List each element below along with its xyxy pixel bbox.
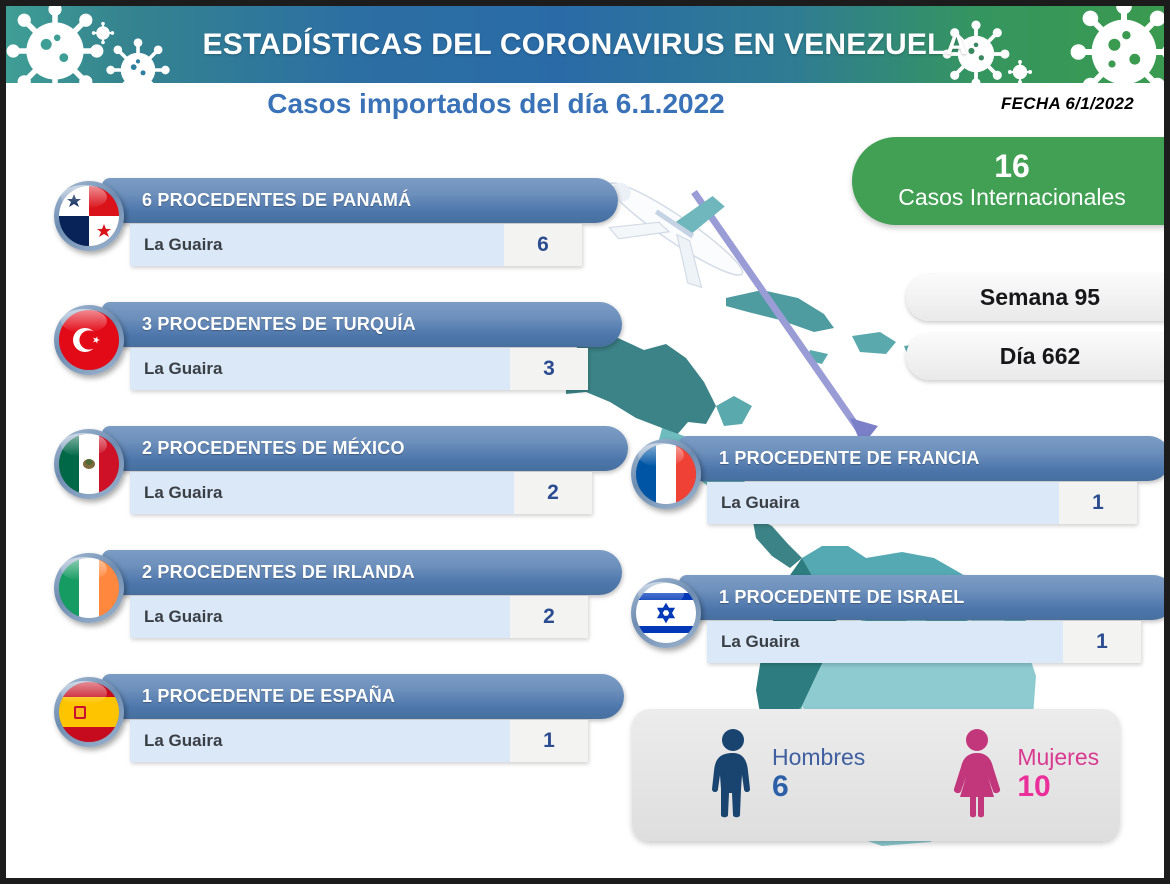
man-icon — [708, 727, 758, 824]
ireland-flag-icon — [54, 553, 124, 623]
panama-flag-icon — [54, 181, 124, 251]
gender-women: Mujeres 10 — [951, 727, 1099, 824]
card-place: La Guaira — [130, 720, 510, 762]
card-header: 6 PROCEDENTES DE PANAMÁ — [102, 178, 618, 223]
card-header: 1 PROCEDENTE DE FRANCIA — [679, 436, 1164, 481]
woman-icon — [951, 727, 1003, 824]
header-banner: ESTADÍSTICAS DEL CORONAVIRUS EN VENEZUEL… — [6, 6, 1164, 83]
page-title: ESTADÍSTICAS DEL CORONAVIRUS EN VENEZUEL… — [6, 6, 1164, 83]
gender-breakdown-panel: Hombres 6 Mujeres 10 — [632, 709, 1120, 841]
card-place: La Guaira — [130, 348, 510, 390]
card-row: La Guaira 6 — [130, 224, 582, 266]
card-title: 2 PROCEDENTES DE IRLANDA — [142, 562, 415, 583]
card-place: La Guaira — [130, 596, 510, 638]
card-row: La Guaira 1 — [707, 482, 1137, 524]
card-place: La Guaira — [707, 621, 1063, 663]
women-label: Mujeres — [1017, 745, 1099, 770]
card-header: 2 PROCEDENTES DE IRLANDA — [102, 550, 622, 595]
semana-pill: Semana 95 — [906, 274, 1164, 321]
international-cases-badge: 16 Casos Internacionales — [852, 137, 1164, 225]
card-row: La Guaira 1 — [707, 621, 1141, 663]
card-place: La Guaira — [130, 224, 504, 266]
card-header: 1 PROCEDENTE DE ESPAÑA — [102, 674, 624, 719]
card-title: 2 PROCEDENTES DE MÉXICO — [142, 438, 405, 459]
israel-flag-icon — [631, 578, 701, 648]
international-cases-count: 16 — [852, 150, 1164, 184]
card-title: 1 PROCEDENTE DE FRANCIA — [719, 448, 980, 469]
card-row: La Guaira 2 — [130, 596, 588, 638]
turkey-flag-icon — [54, 305, 124, 375]
card-count: 1 — [1063, 621, 1141, 663]
card-title: 3 PROCEDENTES DE TURQUÍA — [142, 314, 416, 335]
card-place: La Guaira — [707, 482, 1059, 524]
card-count: 2 — [514, 472, 592, 514]
card-count: 2 — [510, 596, 588, 638]
airplane-icon — [587, 145, 769, 307]
card-header: 2 PROCEDENTES DE MÉXICO — [102, 426, 628, 471]
dia-pill: Día 662 — [906, 333, 1164, 380]
men-label: Hombres — [772, 745, 865, 770]
card-place: La Guaira — [130, 472, 514, 514]
france-flag-icon — [631, 439, 701, 509]
card-row: La Guaira 3 — [130, 348, 588, 390]
women-count: 10 — [1017, 770, 1099, 805]
card-count: 3 — [510, 348, 588, 390]
gender-men: Hombres 6 — [708, 727, 865, 824]
card-count: 6 — [504, 224, 582, 266]
card-row: La Guaira 2 — [130, 472, 592, 514]
card-header: 1 PROCEDENTE DE ISRAEL — [679, 575, 1164, 620]
men-count: 6 — [772, 770, 865, 805]
card-title: 1 PROCEDENTE DE ESPAÑA — [142, 686, 395, 707]
infographic-frame: ESTADÍSTICAS DEL CORONAVIRUS EN VENEZUEL… — [6, 6, 1164, 878]
card-title: 6 PROCEDENTES DE PANAMÁ — [142, 190, 411, 211]
card-row: La Guaira 1 — [130, 720, 588, 762]
card-count: 1 — [1059, 482, 1137, 524]
spain-flag-icon — [54, 677, 124, 747]
card-title: 1 PROCEDENTE DE ISRAEL — [719, 587, 964, 608]
card-count: 1 — [510, 720, 588, 762]
international-cases-label: Casos Internacionales — [852, 184, 1164, 212]
mexico-flag-icon — [54, 429, 124, 499]
card-header: 3 PROCEDENTES DE TURQUÍA — [102, 302, 622, 347]
